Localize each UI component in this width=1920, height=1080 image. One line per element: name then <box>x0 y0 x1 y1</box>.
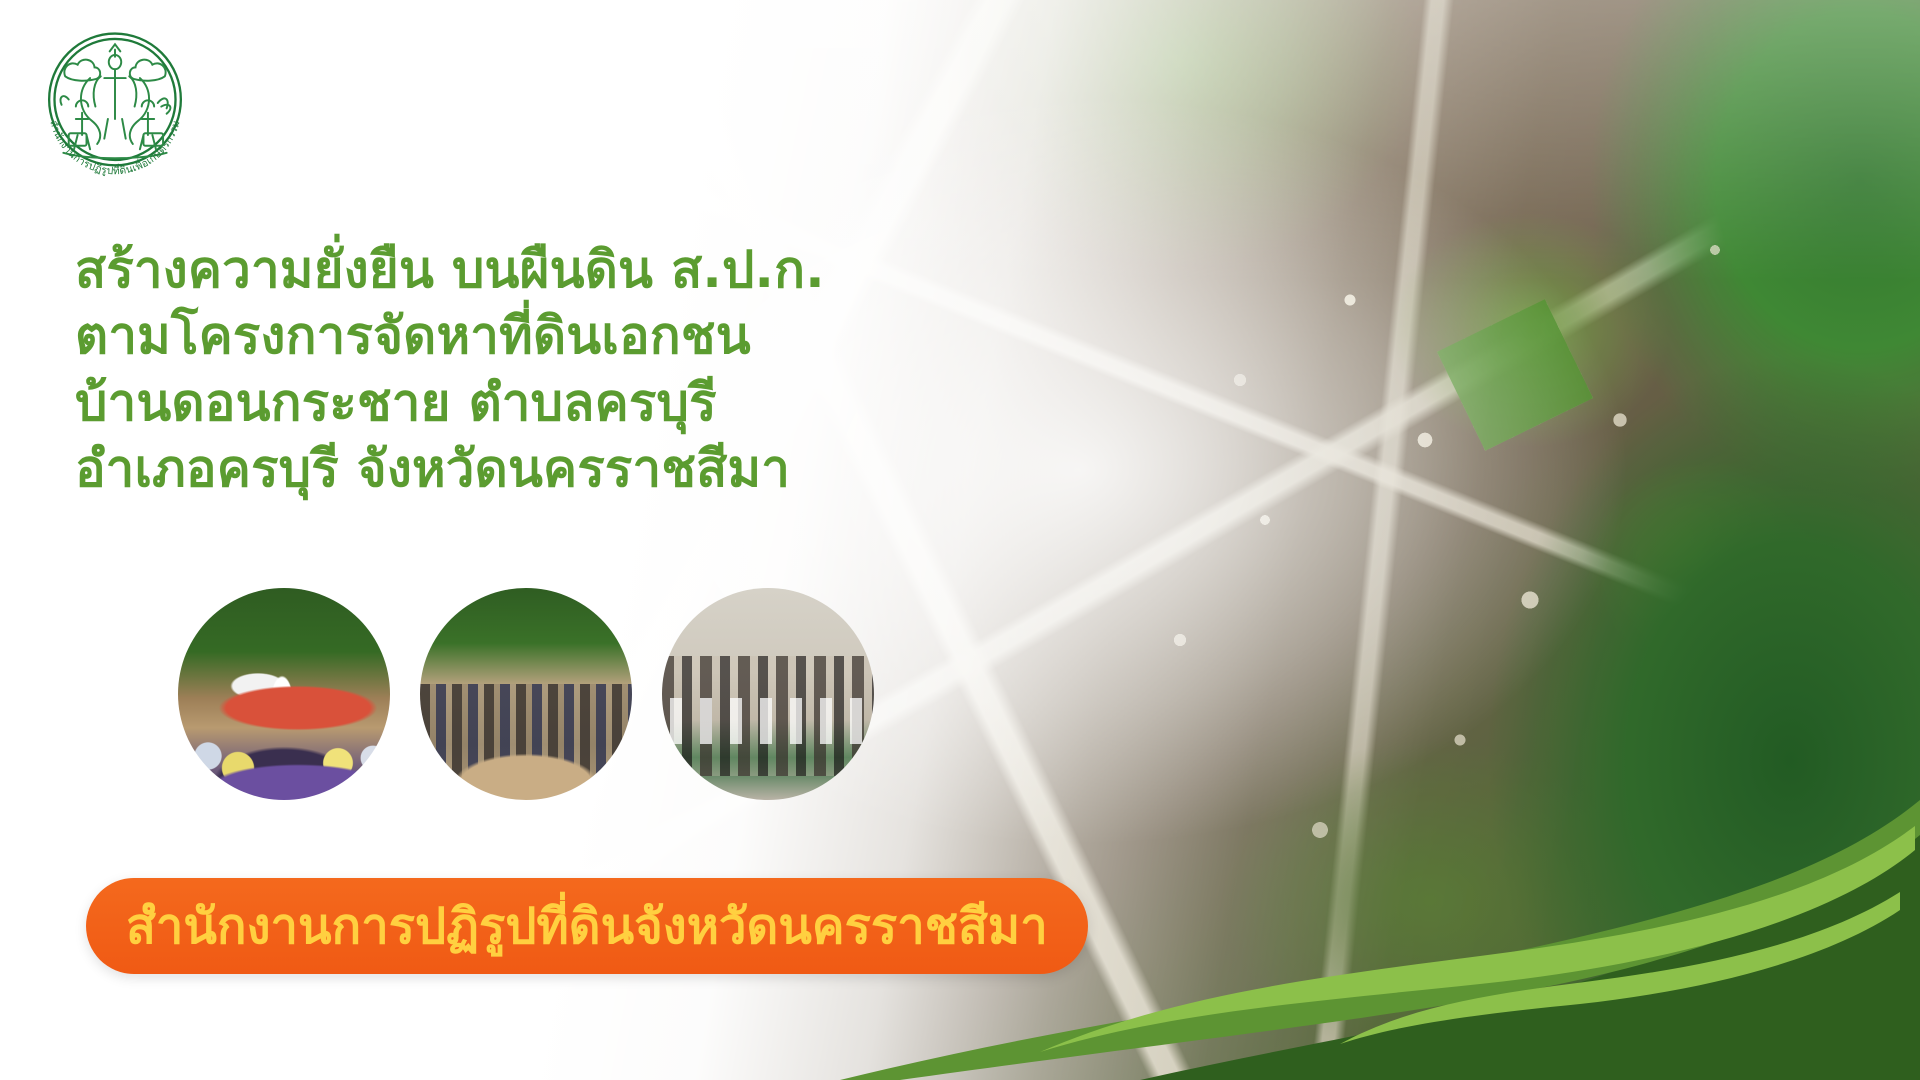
photo-group-standing <box>420 588 632 800</box>
photo-community-meeting <box>178 588 390 800</box>
svg-text:สำนักงานการปฏิรูปที่ดินเพื่อเก: สำนักงานการปฏิรูปที่ดินเพื่อเกษตรกรรม <box>47 119 182 177</box>
poster-canvas: สำนักงานการปฏิรูปที่ดินเพื่อเกษตรกรรม สร… <box>0 0 1920 1080</box>
alro-logo-icon: สำนักงานการปฏิรูปที่ดินเพื่อเกษตรกรรม <box>26 14 204 192</box>
photo-thumbnail-row <box>178 588 874 800</box>
headline-line-1: สร้างความยั่งยืน บนผืนดิน ส.ป.ก. <box>75 238 1075 304</box>
photo-certificate-handover <box>662 588 874 800</box>
alro-logo-caption: สำนักงานการปฏิรูปที่ดินเพื่อเกษตรกรรม <box>47 119 182 177</box>
office-name-banner: สำนักงานการปฏิรูปที่ดินจังหวัดนครราชสีมา <box>86 878 1088 974</box>
headline-line-2: ตามโครงการจัดหาที่ดินเอกชน <box>75 304 1075 370</box>
headline-line-3: บ้านดอนกระชาย ตำบลครบุรี <box>75 371 1075 437</box>
headline-line-4: อำเภอครบุรี จังหวัดนครราชสีมา <box>75 437 1075 503</box>
page-title: สร้างความยั่งยืน บนผืนดิน ส.ป.ก. ตามโครง… <box>75 238 1075 503</box>
office-name-label: สำนักงานการปฏิรูปที่ดินจังหวัดนครราชสีมา <box>126 902 1048 951</box>
